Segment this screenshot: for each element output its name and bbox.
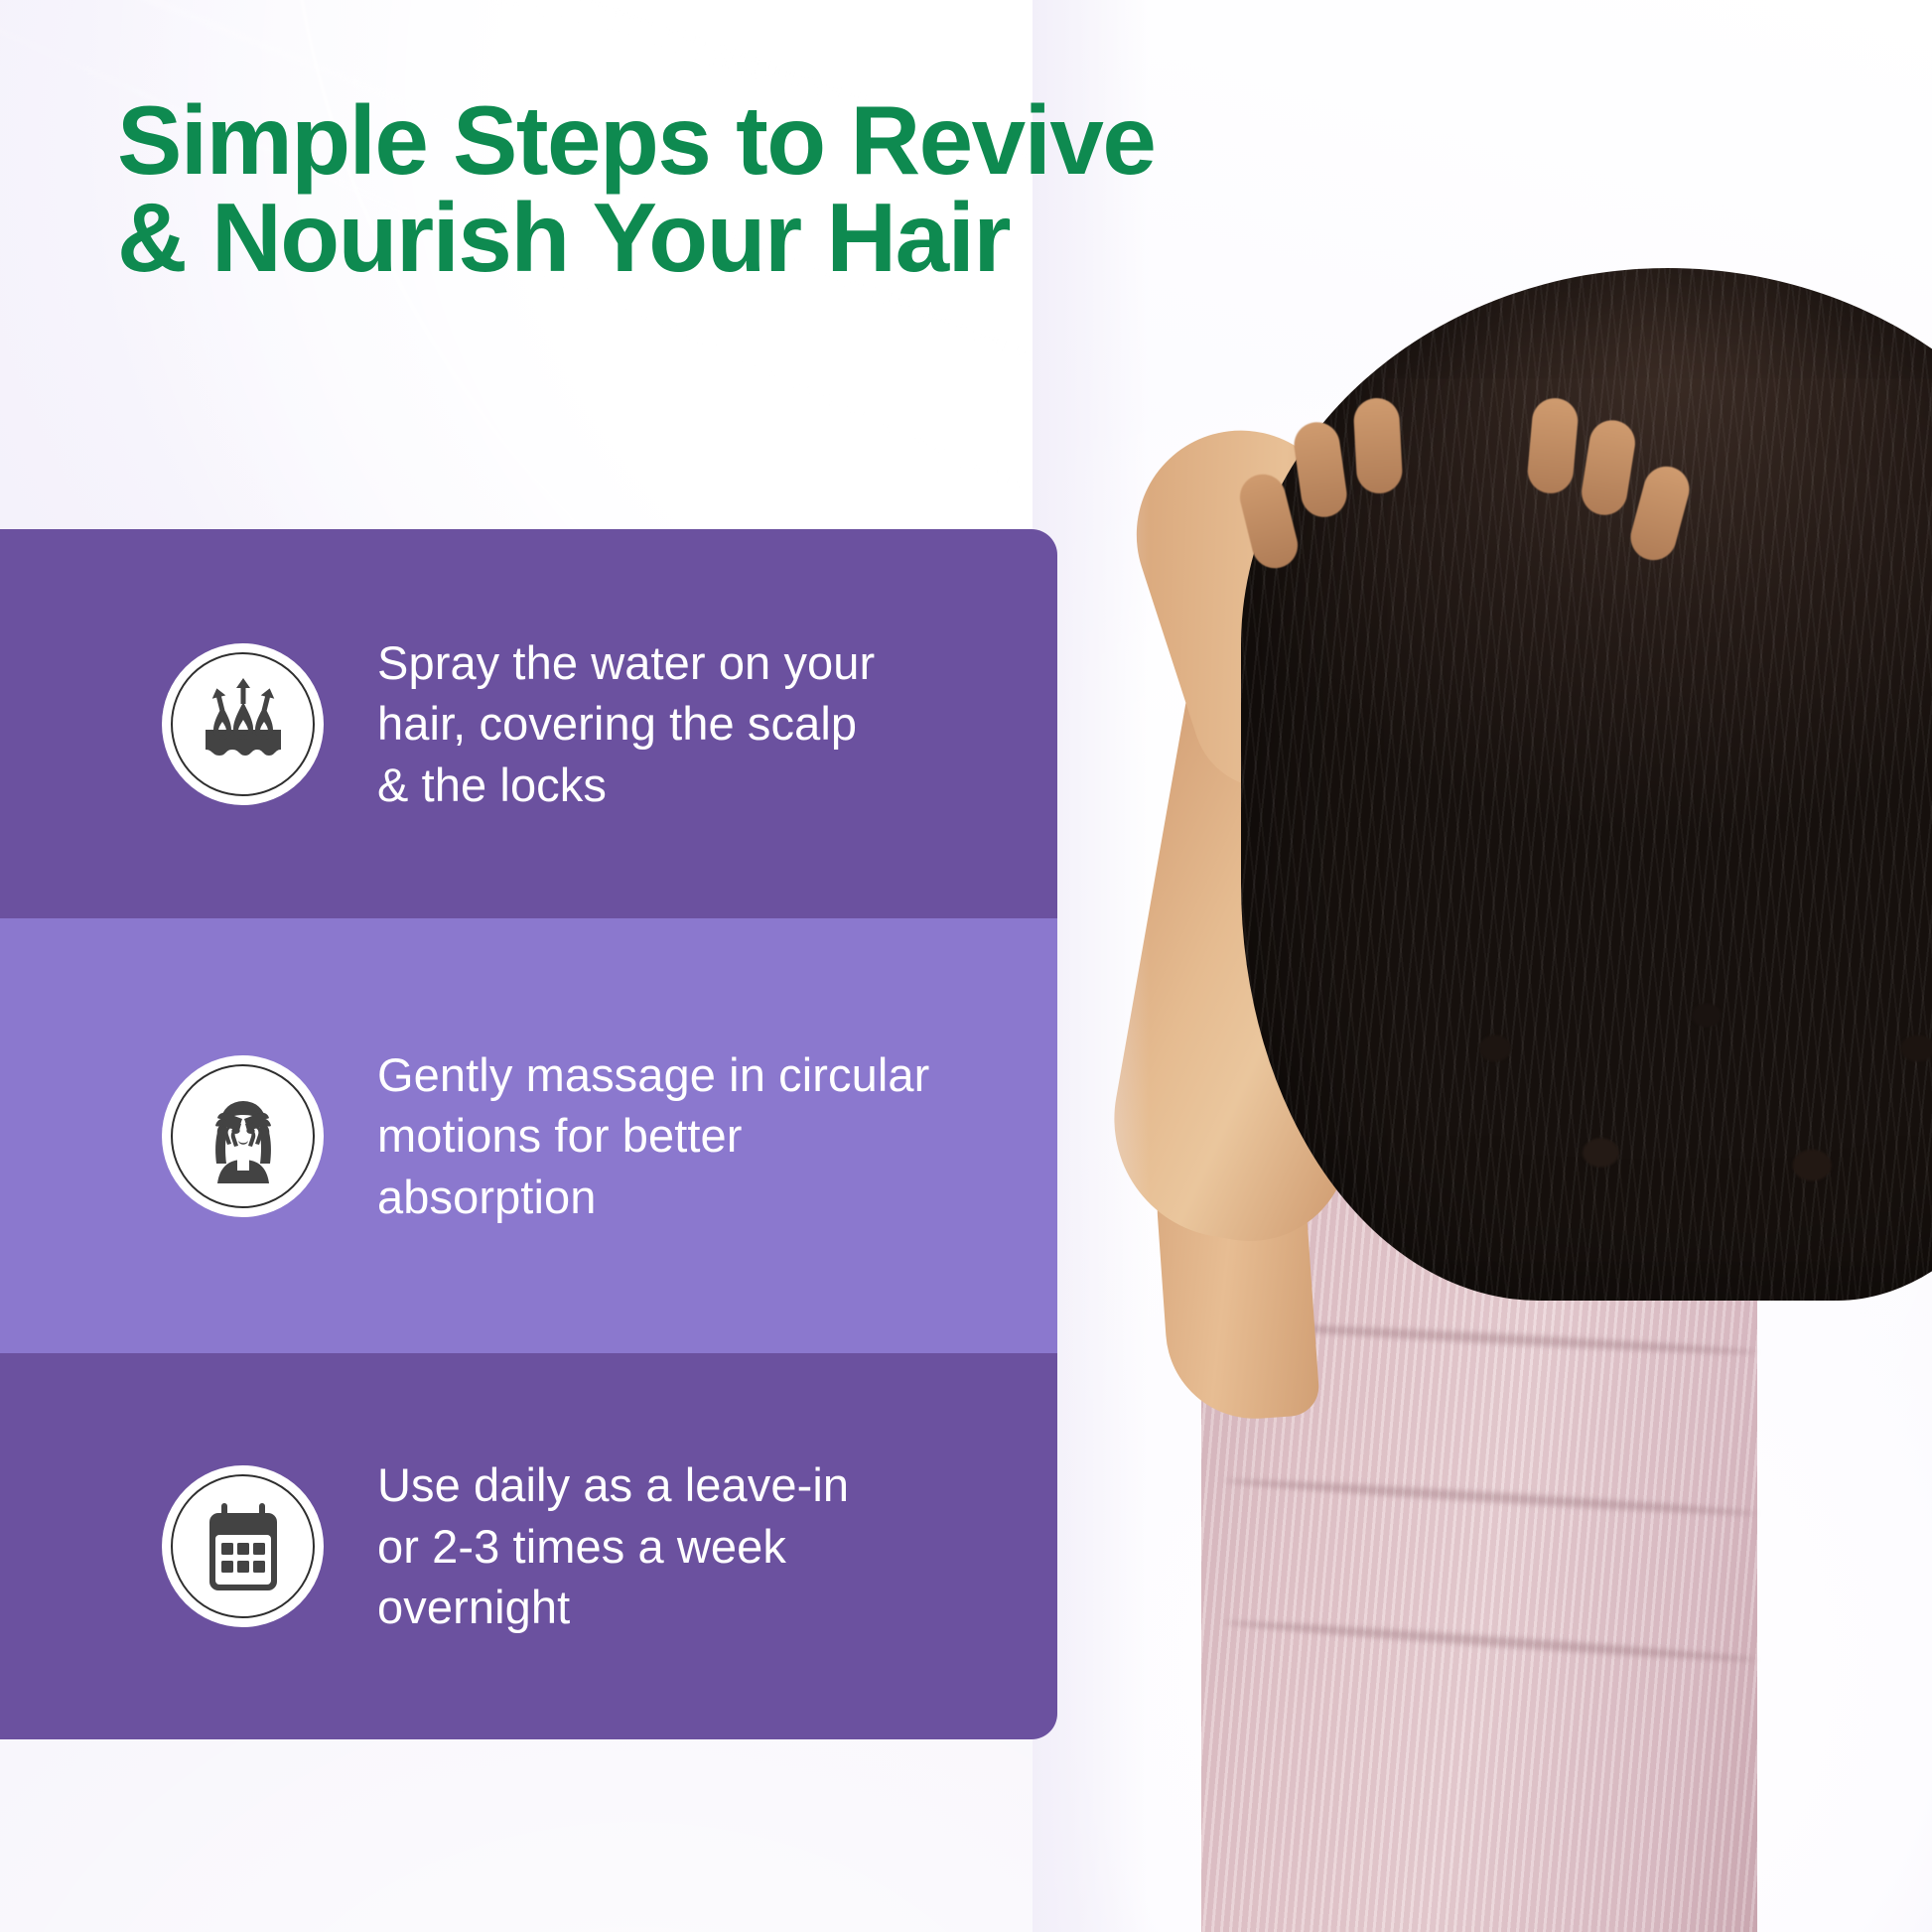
step-card-1[interactable]: Spray the water on your hair, covering t… — [0, 529, 1057, 918]
step-card-2[interactable]: Gently massage in circular motions for b… — [0, 918, 1057, 1353]
calendar-icon — [162, 1465, 324, 1627]
photo-left-fade — [1033, 0, 1932, 1932]
page-title: Simple Steps to Revive & Nourish Your Ha… — [117, 91, 1155, 286]
page-title-text: Simple Steps to Revive & Nourish Your Ha… — [117, 91, 1155, 286]
hair-follicle-scalp-icon — [162, 643, 324, 805]
hero-photo — [1033, 0, 1932, 1932]
step-card-1-text: Spray the water on your hair, covering t… — [377, 632, 875, 816]
step-card-3[interactable]: Use daily as a leave-in or 2-3 times a w… — [0, 1353, 1057, 1739]
scalp-massage-icon — [162, 1055, 324, 1217]
steps-card-stack: Spray the water on your hair, covering t… — [0, 529, 1057, 1739]
step-card-3-text: Use daily as a leave-in or 2-3 times a w… — [377, 1454, 849, 1638]
step-card-2-text: Gently massage in circular motions for b… — [377, 1044, 929, 1228]
